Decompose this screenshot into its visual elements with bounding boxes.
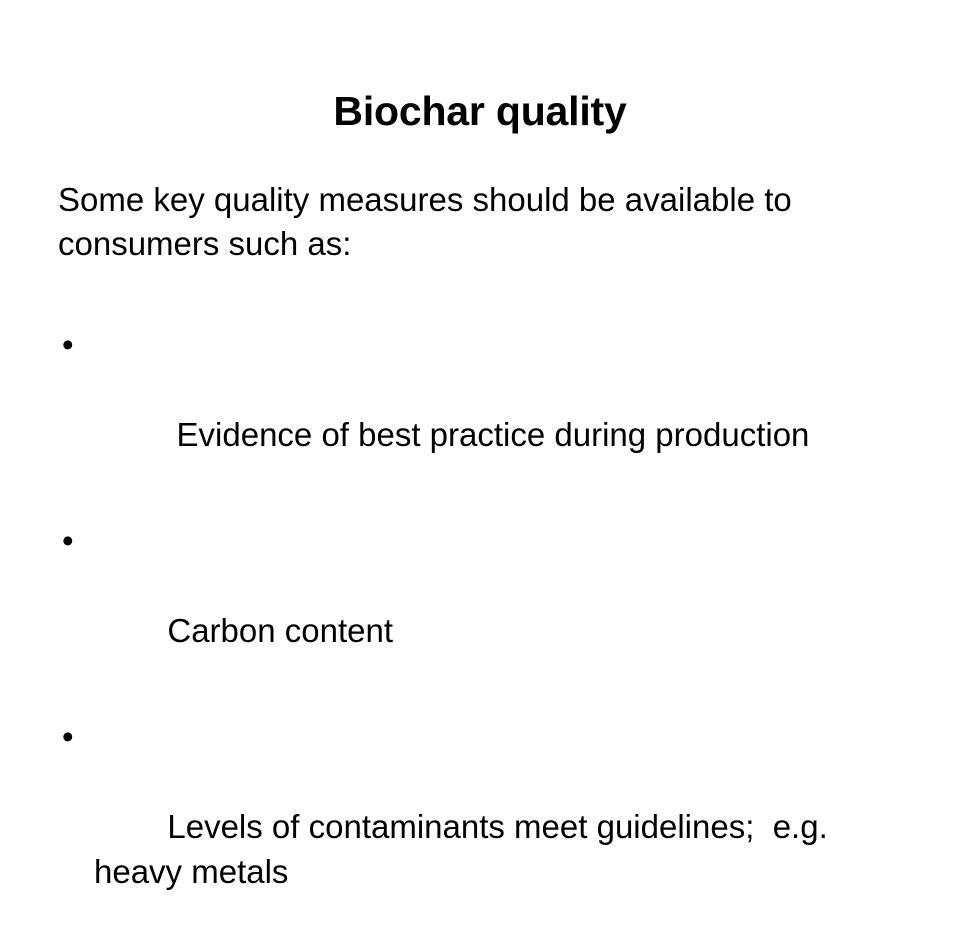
slide-title-block: Biochar quality bbox=[0, 62, 960, 163]
bullet-point-icon: • bbox=[62, 322, 82, 367]
list-item: • Evidence of best practice during produ… bbox=[58, 322, 904, 502]
bullet-point-icon: • bbox=[62, 518, 82, 563]
blank-spacer-line bbox=[58, 266, 888, 310]
list-item: • Levels of contaminants meet guidelines… bbox=[58, 714, 904, 939]
list-item: • Carbon content bbox=[58, 518, 904, 698]
intro-paragraph: Some key quality measures should be avai… bbox=[58, 178, 878, 266]
bullet-list: • Evidence of best practice during produ… bbox=[58, 322, 888, 939]
list-item-label: Evidence of best practice during product… bbox=[167, 416, 809, 453]
list-item-label: Levels of contaminants meet guidelines; … bbox=[94, 808, 837, 890]
list-item-label: Carbon content bbox=[167, 612, 393, 649]
slide-canvas: Biochar quality Some key quality measure… bbox=[0, 0, 960, 720]
bullet-point-icon: • bbox=[62, 714, 82, 759]
page-title: Biochar quality bbox=[333, 89, 626, 135]
slide-body-block: Some key quality measures should be avai… bbox=[58, 178, 888, 939]
